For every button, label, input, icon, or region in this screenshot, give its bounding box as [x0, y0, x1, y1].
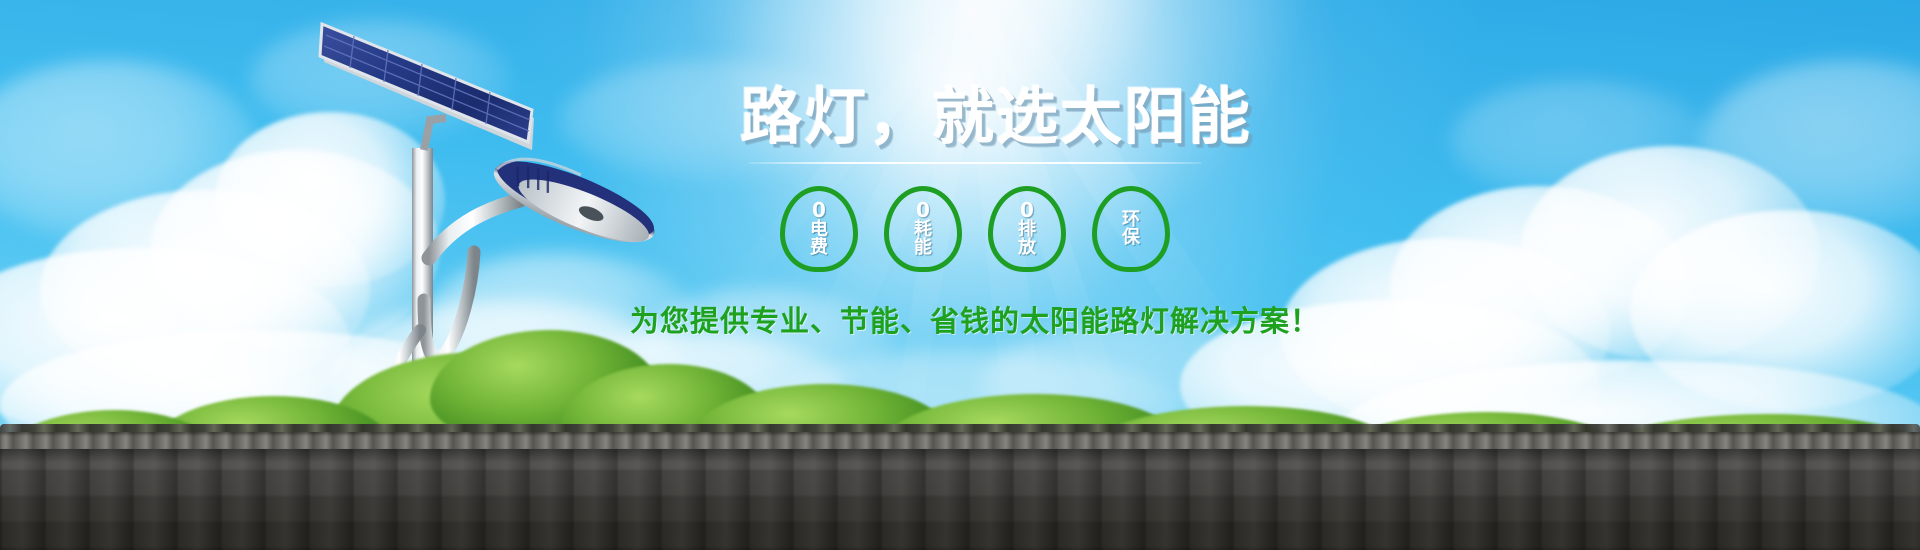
badge-label: 环 保 [1122, 211, 1140, 248]
tiled-wall [0, 432, 1920, 550]
feature-badge-zero-emission[interactable]: 0 排 放 [988, 186, 1066, 272]
badge-label: 0 电 费 [810, 200, 828, 257]
badge-label: 0 耗 能 [914, 200, 932, 257]
title-divider [749, 162, 1201, 164]
feature-badge-eco-friendly[interactable]: 环 保 [1092, 186, 1170, 272]
feature-badge-zero-energy-consumption[interactable]: 0 耗 能 [884, 186, 962, 272]
feature-badge-zero-electricity-bill[interactable]: 0 电 费 [780, 186, 858, 272]
page-title: 路灯，就选太阳能 [740, 86, 1210, 148]
solar-street-light-banner: 路灯，就选太阳能 0 电 费 0 耗 能 [0, 0, 1920, 550]
banner-copy: 路灯，就选太阳能 0 电 费 0 耗 能 [740, 86, 1210, 340]
badge-label: 0 排 放 [1018, 200, 1036, 257]
feature-badge-list: 0 电 费 0 耗 能 0 排 放 [740, 186, 1210, 272]
banner-subtitle: 为您提供专业、节能、省钱的太阳能路灯解决方案！ [630, 298, 1100, 340]
